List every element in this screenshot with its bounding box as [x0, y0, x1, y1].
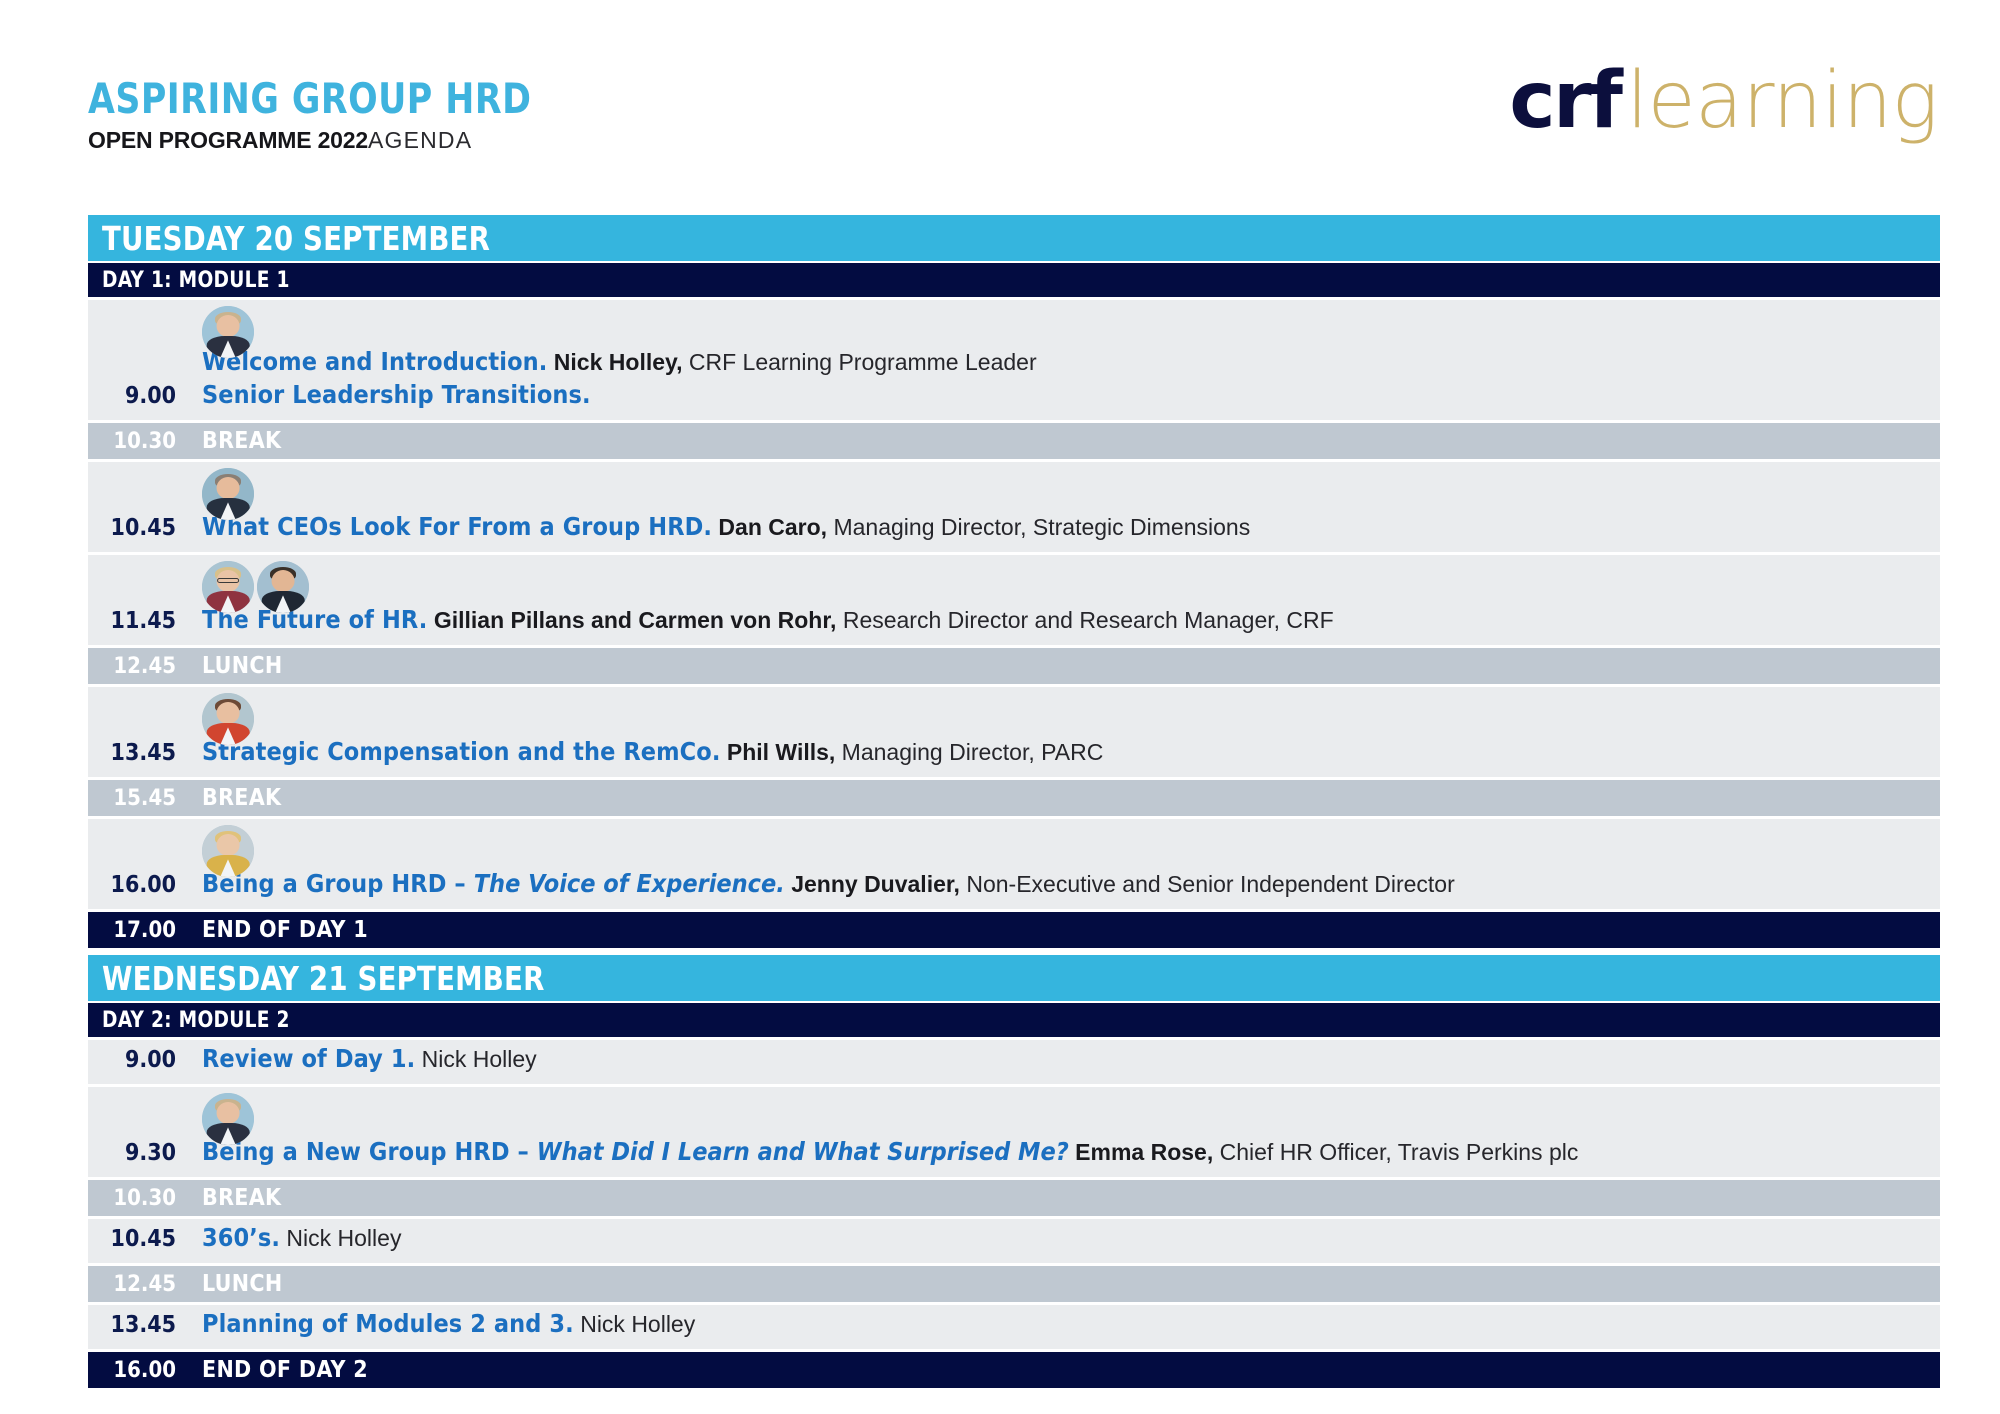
- session-line: Welcome and Introduction. Nick Holley, C…: [202, 347, 1940, 378]
- speaker-avatars: [202, 561, 309, 613]
- session-time: 17.00: [88, 918, 176, 943]
- session-role: CRF Learning Programme Leader: [683, 349, 1037, 375]
- session-title: Strategic Compensation and the RemCo.: [202, 737, 720, 766]
- session-role: Nick Holley: [574, 1311, 695, 1337]
- avatar: [257, 561, 309, 613]
- end-of-day-label: END OF DAY 2: [202, 1357, 368, 1383]
- session-line-secondary: Senior Leadership Transitions.: [202, 380, 1940, 411]
- session-body: LUNCH: [176, 653, 1940, 679]
- day-banner-label: TUESDAY 20 SEPTEMBER: [102, 219, 490, 258]
- break-label: LUNCH: [202, 1271, 282, 1297]
- session-time: 10.45: [88, 515, 176, 552]
- day-banner-2: WEDNESDAY 21 SEPTEMBER: [88, 955, 1940, 1001]
- crf-learning-logo: crflearning: [1509, 62, 1938, 140]
- session-body: BREAK: [176, 428, 1940, 454]
- break-row: 12.45LUNCH: [88, 648, 1940, 684]
- session-time: 12.45: [88, 654, 176, 679]
- session-time: 9.30: [88, 1140, 176, 1177]
- session-body: END OF DAY 2: [176, 1357, 1940, 1383]
- day-banner-label: WEDNESDAY 21 SEPTEMBER: [102, 959, 545, 998]
- session-title: 360’s.: [202, 1223, 280, 1252]
- session-time: 10.30: [88, 1186, 176, 1211]
- agenda-page: ASPIRING GROUP HRD OPEN PROGRAMME 2022AG…: [0, 0, 2000, 1414]
- module-bar-1: DAY 1: MODULE 1: [88, 263, 1940, 297]
- session-line: Strategic Compensation and the RemCo. Ph…: [202, 737, 1940, 768]
- session-line: Review of Day 1. Nick Holley: [202, 1044, 1940, 1075]
- session-row: 9.00Review of Day 1. Nick Holley: [88, 1040, 1940, 1084]
- page-subtitle: OPEN PROGRAMME 2022AGENDA: [88, 129, 570, 152]
- session-row: 9.00Welcome and Introduction. Nick Holle…: [88, 300, 1940, 420]
- page-subtitle-programme: OPEN PROGRAMME 2022: [88, 127, 368, 153]
- break-row: 10.30BREAK: [88, 423, 1940, 459]
- session-time: 13.45: [88, 740, 176, 777]
- session-body: Strategic Compensation and the RemCo. Ph…: [176, 737, 1940, 778]
- break-row: 10.30BREAK: [88, 1180, 1940, 1216]
- session-title: Review of Day 1.: [202, 1044, 415, 1073]
- page-header: ASPIRING GROUP HRD OPEN PROGRAMME 2022AG…: [0, 0, 2000, 215]
- session-time: 9.00: [88, 1047, 176, 1084]
- session-body: Being a New Group HRD – What Did I Learn…: [176, 1137, 1940, 1178]
- session-speaker: Dan Caro,: [712, 514, 827, 540]
- break-row: 12.45LUNCH: [88, 1266, 1940, 1302]
- session-time: 13.45: [88, 1312, 176, 1349]
- page-subtitle-agenda: AGENDA: [368, 127, 472, 153]
- module-bar-label: DAY 1: MODULE 1: [102, 268, 290, 293]
- session-row: 10.45360’s. Nick Holley: [88, 1219, 1940, 1263]
- session-body: LUNCH: [176, 1271, 1940, 1297]
- logo-learning-text: learning: [1626, 56, 1938, 146]
- speaker-avatars: [202, 468, 254, 520]
- session-body: Review of Day 1. Nick Holley: [176, 1044, 1940, 1085]
- avatar: [202, 306, 254, 358]
- session-title-italic: The Voice of Experience.: [474, 869, 785, 898]
- speaker-avatars: [202, 825, 254, 877]
- agenda-table: TUESDAY 20 SEPTEMBERDAY 1: MODULE 19.00W…: [88, 215, 1940, 1391]
- session-line: Being a Group HRD – The Voice of Experie…: [202, 869, 1940, 900]
- speaker-avatars: [202, 1093, 254, 1145]
- session-row: 13.45Planning of Modules 2 and 3. Nick H…: [88, 1305, 1940, 1349]
- speaker-avatars: [202, 306, 254, 358]
- session-time: 11.45: [88, 608, 176, 645]
- session-row: 11.45The Future of HR. Gillian Pillans a…: [88, 555, 1940, 645]
- session-role: Non-Executive and Senior Independent Dir…: [960, 871, 1455, 897]
- session-body: What CEOs Look For From a Group HRD. Dan…: [176, 512, 1940, 553]
- session-body: Welcome and Introduction. Nick Holley, C…: [176, 347, 1940, 420]
- session-role: Research Director and Research Manager, …: [836, 607, 1333, 633]
- session-time: 10.45: [88, 1226, 176, 1263]
- break-label: LUNCH: [202, 653, 282, 679]
- session-time: 16.00: [88, 872, 176, 909]
- session-role: Managing Director, PARC: [835, 739, 1103, 765]
- session-line: What CEOs Look For From a Group HRD. Dan…: [202, 512, 1940, 543]
- session-row: 9.30Being a New Group HRD – What Did I L…: [88, 1087, 1940, 1177]
- session-body: Planning of Modules 2 and 3. Nick Holley: [176, 1309, 1940, 1350]
- break-label: BREAK: [202, 1185, 281, 1211]
- break-label: BREAK: [202, 785, 281, 811]
- end-of-day-row: 16.00END OF DAY 2: [88, 1352, 1940, 1388]
- logo-crf-text: crf: [1509, 56, 1620, 146]
- session-speaker: Emma Rose,: [1069, 1139, 1213, 1165]
- avatar: [202, 468, 254, 520]
- session-body: 360’s. Nick Holley: [176, 1223, 1940, 1264]
- session-time: 15.45: [88, 786, 176, 811]
- session-line: The Future of HR. Gillian Pillans and Ca…: [202, 605, 1940, 636]
- session-role: Nick Holley: [280, 1225, 401, 1251]
- session-line: Being a New Group HRD – What Did I Learn…: [202, 1137, 1940, 1168]
- session-role: Nick Holley: [415, 1046, 536, 1072]
- break-label: BREAK: [202, 428, 281, 454]
- session-speaker: Gillian Pillans and Carmen von Rohr,: [427, 607, 836, 633]
- brand-block: ASPIRING GROUP HRD OPEN PROGRAMME 2022AG…: [88, 78, 570, 152]
- session-time: 9.00: [88, 383, 176, 420]
- session-title: What CEOs Look For From a Group HRD.: [202, 512, 712, 541]
- speaker-avatars: [202, 693, 254, 745]
- session-speaker: Nick Holley,: [547, 349, 682, 375]
- session-speaker: Jenny Duvalier,: [785, 871, 960, 897]
- session-line: Planning of Modules 2 and 3. Nick Holley: [202, 1309, 1940, 1340]
- session-speaker: Phil Wills,: [720, 739, 835, 765]
- session-role: Managing Director, Strategic Dimensions: [827, 514, 1250, 540]
- session-role: Chief HR Officer, Travis Perkins plc: [1213, 1139, 1578, 1165]
- break-row: 15.45BREAK: [88, 780, 1940, 816]
- session-body: END OF DAY 1: [176, 917, 1940, 943]
- session-body: The Future of HR. Gillian Pillans and Ca…: [176, 605, 1940, 646]
- session-title-secondary: Senior Leadership Transitions.: [202, 380, 591, 409]
- session-row: 13.45Strategic Compensation and the RemC…: [88, 687, 1940, 777]
- page-title: ASPIRING GROUP HRD: [88, 78, 531, 120]
- module-bar-2: DAY 2: MODULE 2: [88, 1003, 1940, 1037]
- end-of-day-row: 17.00END OF DAY 1: [88, 912, 1940, 948]
- session-body: BREAK: [176, 1185, 1940, 1211]
- session-line: 360’s. Nick Holley: [202, 1223, 1940, 1254]
- session-time: 10.30: [88, 429, 176, 454]
- module-bar-label: DAY 2: MODULE 2: [102, 1008, 290, 1033]
- session-title-italic: What Did I Learn and What Surprised Me?: [537, 1137, 1069, 1166]
- session-time: 12.45: [88, 1272, 176, 1297]
- session-row: 16.00Being a Group HRD – The Voice of Ex…: [88, 819, 1940, 909]
- end-of-day-label: END OF DAY 1: [202, 917, 368, 943]
- session-body: BREAK: [176, 785, 1940, 811]
- session-body: Being a Group HRD – The Voice of Experie…: [176, 869, 1940, 910]
- avatar: [202, 561, 254, 613]
- day-banner-1: TUESDAY 20 SEPTEMBER: [88, 215, 1940, 261]
- avatar: [202, 1093, 254, 1145]
- session-row: 10.45What CEOs Look For From a Group HRD…: [88, 462, 1940, 552]
- avatar: [202, 693, 254, 745]
- session-title: Planning of Modules 2 and 3.: [202, 1309, 574, 1338]
- session-time: 16.00: [88, 1358, 176, 1383]
- avatar: [202, 825, 254, 877]
